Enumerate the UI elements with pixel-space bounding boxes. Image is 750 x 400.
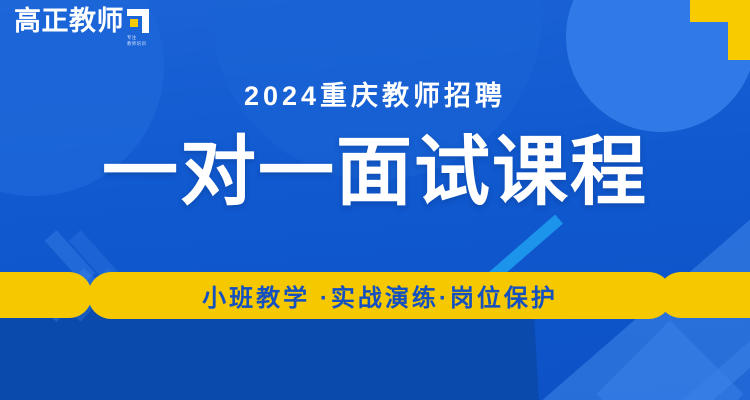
brand-logo-mark-wrap: 专注 教师培训 (127, 8, 149, 46)
brand-logo-tagline-line2: 教师培训 (127, 41, 149, 47)
hero-title: 一对一面试课程 (0, 133, 750, 213)
feature-banner[interactable]: 小班教学 ·实战演练·岗位保护 (88, 272, 672, 319)
bracket-square-icon-fill (130, 19, 138, 27)
hero-subtitle: 2024重庆教师招聘 (0, 74, 750, 113)
promo-banner: 高正教师 专注 教师培训 2024重庆教师招聘 一对一面试课程 小班教学 ·实战… (0, 0, 750, 400)
banner-content: 高正教师 专注 教师培训 2024重庆教师招聘 一对一面试课程 小班教学 ·实战… (0, 0, 750, 400)
brand-logo-tagline: 专注 教师培训 (127, 35, 149, 46)
feature-banner-text: 小班教学 ·实战演练·岗位保护 (202, 278, 558, 313)
brand-logo[interactable]: 高正教师 专注 教师培训 (14, 8, 149, 46)
bracket-square-icon-side (142, 9, 149, 33)
bracket-square-icon (127, 9, 149, 33)
brand-logo-text: 高正教师 (14, 8, 124, 35)
